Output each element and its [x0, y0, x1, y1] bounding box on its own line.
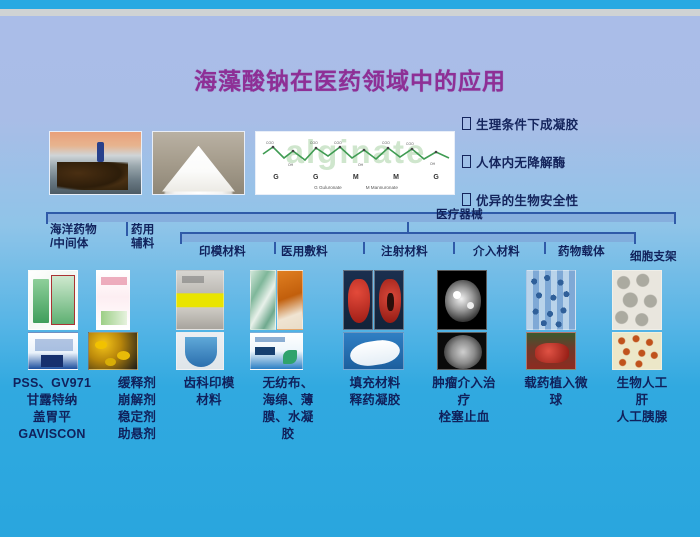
browser-top-bar: [0, 0, 700, 9]
caption-injection-materials: 填充材料 释药凝胶: [336, 375, 414, 409]
encapsulated-cells-micrograph: [612, 270, 662, 330]
flow-label-marine-drugs: 海洋药物 /中间体: [50, 223, 97, 251]
residue-sequence-row: G G M M G: [256, 174, 455, 181]
svg-text:COO: COO: [382, 141, 390, 145]
powder-cone-shape: [162, 146, 235, 192]
residue-legend: G Guluronate M Mannuronate: [256, 185, 455, 190]
flow-label-excipients: 药用 辅料: [131, 223, 154, 251]
heart-anatomy-photo: [343, 270, 373, 330]
missing-glyph-box-icon: [462, 155, 471, 168]
harvester-figure: [97, 142, 104, 162]
drug-box-green-photo: [28, 270, 78, 330]
dressing-package-photo: [250, 332, 303, 370]
legend-mannuronate: M Mannuronate: [366, 185, 398, 190]
flow-mid-bracket: [180, 232, 636, 244]
svg-text:COO: COO: [334, 141, 342, 145]
flow-label-medical-dressing: 医用敷料: [281, 245, 328, 259]
alginate-fiber-dressing-photo-2: [277, 270, 303, 330]
flow-stem-carrier: [544, 242, 546, 254]
browser-toolbar-strip: [0, 9, 700, 16]
svg-text:OH: OH: [358, 163, 364, 167]
flow-label-injection-material: 注射材料: [381, 245, 428, 259]
caption-pharma-excipients: 缓释剂 崩解剂 稳定剂 助悬剂: [100, 375, 174, 443]
svg-text:COO: COO: [406, 142, 414, 146]
flow-label-drug-carrier: 药物载体: [558, 245, 605, 259]
missing-glyph-box-icon: [462, 193, 471, 206]
residue-3: M: [353, 174, 359, 181]
bullet-item-3: 优异的生物安全性: [462, 190, 697, 209]
svg-text:OH: OH: [288, 163, 294, 167]
dental-impression-tray-photo: [176, 332, 224, 370]
alginate-molecular-structure-diagram: alginate COOOH COOCOO OHCOO COOOH G G M …: [255, 131, 455, 195]
svg-text:OH: OH: [430, 162, 436, 166]
flow-stem-injection: [363, 242, 365, 254]
bullet-item-2: 人体内无降解酶: [462, 152, 697, 171]
flow-label-medical-devices: 医疗器械: [436, 208, 483, 222]
caption-drug-carriers: 载药植入微 球: [512, 375, 600, 409]
page-title: 海藻酸钠在医药领域中的应用: [0, 62, 700, 96]
flow-label-interventional: 介入材料: [473, 245, 520, 259]
properties-bullet-list: 生理条件下成凝胶 人体内无降解酶 优异的生物安全性: [462, 114, 697, 228]
yellow-capsules-photo: [88, 332, 138, 370]
caption-marine-drugs: PSS、GV971 甘露特纳 盖胃平 GAVISCON: [0, 375, 106, 443]
bullet-label-3: 优异的生物安全性: [476, 194, 578, 208]
ct-scan-photo: [437, 270, 487, 330]
heart-cross-section-photo: [374, 270, 404, 330]
angiography-scan-photo: [437, 332, 487, 370]
residue-5: G: [433, 174, 438, 181]
bullet-label-2: 人体内无降解酶: [476, 156, 566, 170]
flow-stem-dressing: [274, 242, 276, 254]
alginate-fiber-dressing-photo: [250, 270, 276, 330]
missing-glyph-box-icon: [462, 117, 471, 130]
kelp-shape: [57, 162, 128, 191]
caption-medical-dressings: 无纺布、 海绵、薄 膜、水凝 胶: [248, 375, 328, 443]
flow-label-cell-scaffold: 细胞支架: [630, 250, 677, 264]
caption-cell-scaffolds: 生物人工 肝 人工胰腺: [602, 375, 682, 426]
legend-guluronate: G Guluronate: [314, 185, 342, 190]
injectable-gel-photo: [343, 332, 404, 370]
impression-powder-bag-photo: [176, 270, 224, 330]
medicine-carton-photo: [96, 270, 130, 330]
residue-1: G: [273, 174, 278, 181]
stained-tissue-micrograph: [612, 332, 662, 370]
caption-impression-materials: 齿科印模 材料: [168, 375, 250, 409]
surgical-implant-photo: [526, 332, 576, 370]
svg-text:COO: COO: [266, 141, 274, 145]
svg-text:COO: COO: [310, 141, 318, 145]
presentation-slide: 海藻酸钠在医药领域中的应用 alginate COOOH COOCOO OHCO…: [0, 0, 700, 537]
flow-label-impression-material: 印模材料: [199, 245, 246, 259]
microspheres-micrograph: [526, 270, 576, 330]
bullet-label-1: 生理条件下成凝胶: [476, 118, 578, 132]
flow-stem-interventional: [453, 242, 455, 254]
residue-4: M: [393, 174, 399, 181]
polysaccharide-chain-svg: COOOH COOCOO OHCOO COOOH: [260, 138, 452, 172]
drug-box-blue-photo: [28, 332, 78, 370]
seaweed-harvest-photo: [49, 131, 142, 195]
flow-stem-excipients: [126, 222, 128, 236]
sodium-alginate-powder-photo: [152, 131, 245, 195]
bullet-item-1: 生理条件下成凝胶: [462, 114, 697, 133]
caption-interventional: 肿瘤介入治 疗 栓塞止血: [420, 375, 508, 426]
residue-2: G: [313, 174, 318, 181]
